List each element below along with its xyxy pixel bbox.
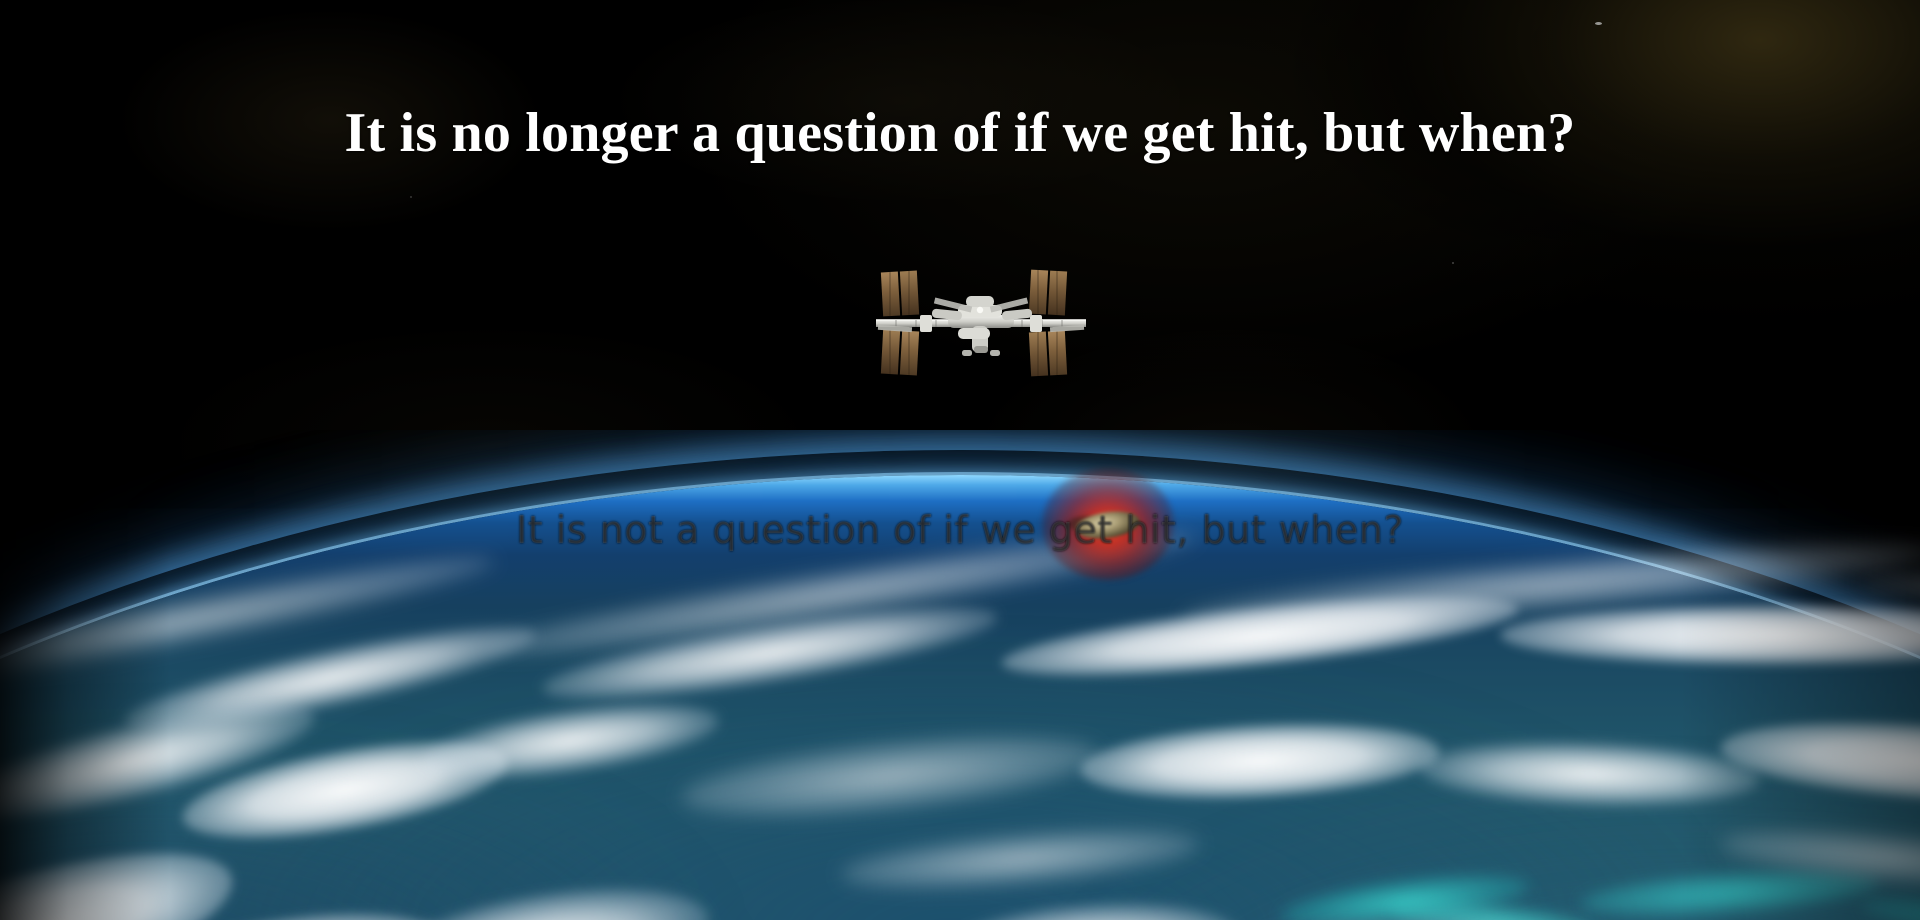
cloud [1500,605,1920,665]
slide-canvas: It is not a question of if we get hit, b… [0,0,1920,920]
cloud [0,540,498,703]
cloud [119,608,541,748]
ocean-tint [200,675,1700,920]
cloud [417,690,722,791]
cloud [1859,561,1920,642]
star-speck [410,196,412,198]
cloud [176,723,515,857]
cloud [0,757,40,903]
cloud [678,721,1103,831]
cloud [1916,895,1920,920]
ocean-tint [1050,795,1920,920]
shallow-water [1389,894,1601,920]
cloud [998,580,1521,692]
cloud [51,885,469,920]
cloud [538,589,1001,716]
star-speck [1595,22,1602,25]
cloud [839,819,1202,898]
page-title: It is no longer a question of if we get … [0,102,1920,164]
cloud [0,819,248,920]
star-speck [1452,262,1454,264]
cloud [375,870,716,920]
shallow-water [1579,863,1881,920]
cloud [937,895,1242,920]
earth [0,430,1920,920]
cloud [1718,710,1920,813]
cloud [1078,716,1441,807]
ocean-tint [0,755,700,920]
cloud [1419,737,1761,811]
cloud [1719,820,1920,895]
shallow-water [1278,865,1531,920]
shallow-water [1859,887,1920,920]
cloud [0,682,323,842]
ghost-subtitle: It is not a question of if we get hit, b… [0,508,1920,552]
iss-spacecraft [862,258,1100,390]
